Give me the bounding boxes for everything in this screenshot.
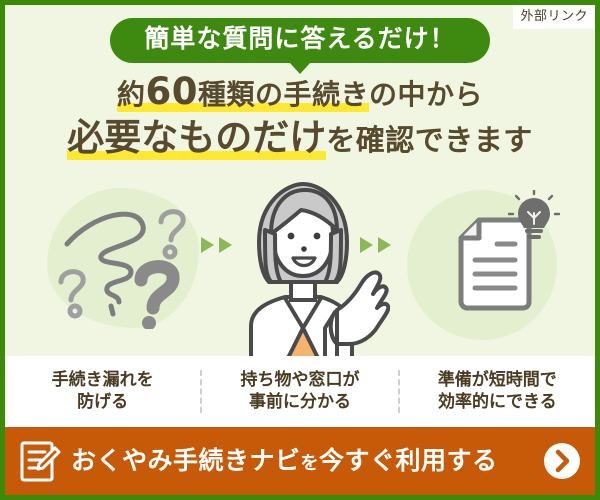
feature-item-1-line-1: 手続き漏れを (9, 370, 196, 392)
cta-label-tail: 今すぐ利用する (319, 446, 498, 475)
headline-line-2-suffix: を確認できます (326, 123, 533, 157)
cta-label-main: おくやみ手続きナビ (71, 446, 301, 475)
lightbulb-icon (508, 190, 560, 242)
feature-item-3-line-2: 効率的にできる (404, 392, 591, 414)
question-marks-icon (53, 194, 203, 329)
cta-label: おくやみ手続きナビを今すぐ利用する (71, 447, 535, 475)
tagline-pill-label: 簡単な質問に答えるだけ！ (144, 24, 455, 53)
external-link-badge: 外部リンク (513, 5, 595, 29)
pill-container: 簡単な質問に答えるだけ！ (5, 18, 595, 63)
headline: 約60種類の手続きの中から 必要なものだけを確認できます (5, 77, 595, 161)
illustration-band (5, 180, 595, 360)
headline-line-1-highlight: 約60種類の手続き (117, 78, 369, 112)
feature-item-1-line-2: 防げる (9, 392, 196, 414)
promo-banner[interactable]: 外部リンク 簡単な質問に答えるだけ！ 約60種類の手続きの中から 必要なものだけ… (0, 0, 600, 500)
headline-line-2: 必要なものだけを確認できます (5, 114, 595, 161)
headline-line-1-middle: 種類の手続き (198, 78, 369, 111)
headline-line-1-prefix: 約 (117, 78, 146, 111)
headline-line-2-highlight: 必要なものだけ (67, 116, 326, 160)
feature-item-2-line-2: 事前に分かる (206, 392, 393, 414)
cta-button[interactable]: おくやみ手続きナビを今すぐ利用する (5, 427, 595, 495)
feature-item-3-line-1: 準備が短時間で (404, 370, 591, 392)
feature-item-3: 準備が短時間で 効率的にできる (398, 370, 595, 414)
headline-line-1: 約60種類の手続きの中から (5, 77, 595, 112)
chevron-right-circle-icon[interactable] (543, 442, 581, 480)
feature-row: 手続き漏れを 防げる 持ち物や窓口が 事前に分かる 準備が短時間で 効率的にでき… (5, 356, 595, 427)
tagline-pill: 簡単な質問に答えるだけ！ (110, 18, 489, 63)
cta-label-particle: を (301, 453, 320, 474)
feature-item-2: 持ち物や窓口が 事前に分かる (200, 370, 397, 414)
document-pencil-icon (19, 439, 61, 483)
headline-line-1-suffix: の中から (369, 78, 483, 111)
feature-item-1: 手続き漏れを 防げる (5, 370, 200, 414)
pill-tail-icon (289, 62, 311, 74)
feature-item-2-line-1: 持ち物や窓口が (206, 370, 393, 392)
headline-count: 60 (145, 70, 198, 113)
woman-waving-illustration (225, 178, 390, 360)
